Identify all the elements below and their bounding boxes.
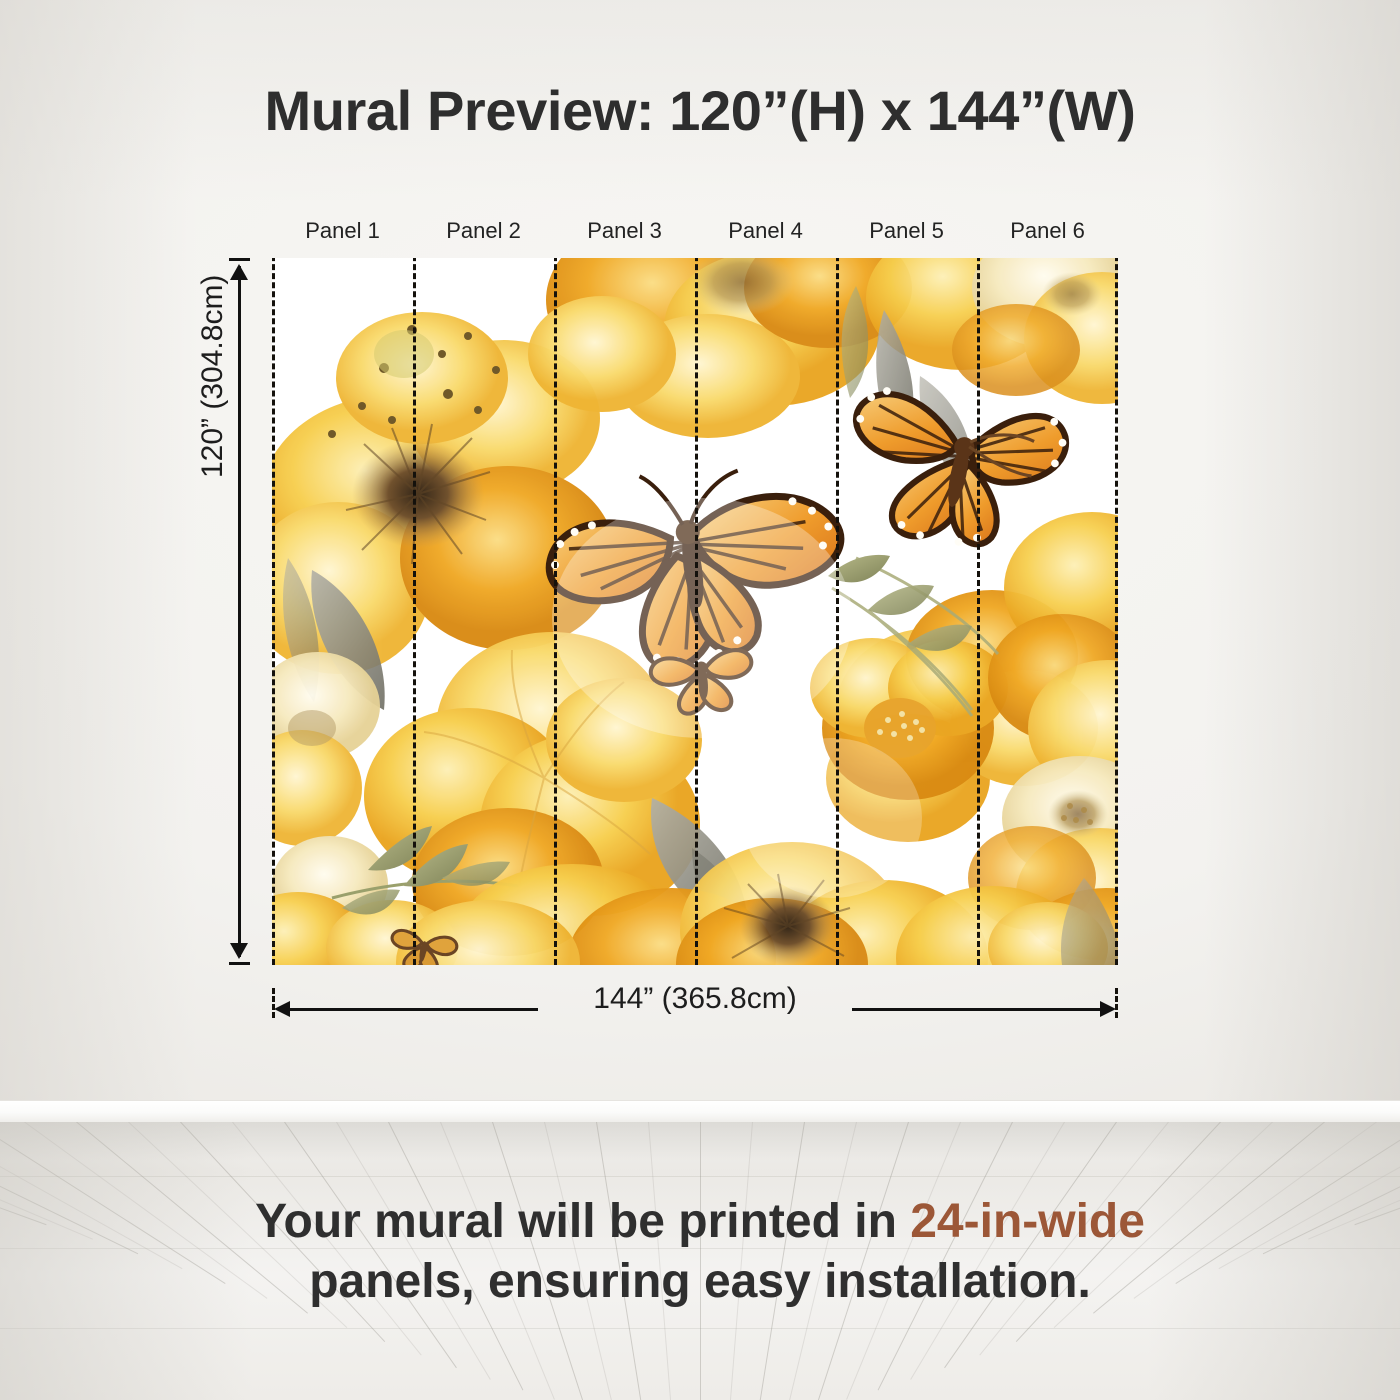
panel-label: Panel 5	[836, 214, 977, 254]
caption-line-1: Your mural will be printed in 24-in-wide	[0, 1192, 1400, 1252]
width-dimension-label: 144” (365.8cm)	[272, 982, 1118, 1016]
height-dimension-arrow	[228, 258, 250, 965]
width-dimension-arrow: 144” (365.8cm)	[272, 998, 1118, 1022]
height-cap-top	[229, 258, 250, 261]
panel-label-row: Panel 1 Panel 2 Panel 3 Panel 4 Panel 5 …	[272, 214, 1118, 254]
panel-label: Panel 3	[554, 214, 695, 254]
width-dimension-endtick	[272, 988, 275, 1018]
panel-label: Panel 4	[695, 214, 836, 254]
panel-label: Panel 2	[413, 214, 554, 254]
floor-seam-line	[0, 1328, 1400, 1329]
height-arrow-shaft	[238, 266, 241, 957]
panel-label: Panel 6	[977, 214, 1118, 254]
caption-highlight: 24-in-wide	[910, 1195, 1145, 1248]
height-arrowhead-down	[230, 943, 248, 959]
mural-artwork	[272, 258, 1118, 965]
height-cap-bottom	[229, 962, 250, 965]
floor-seam-line	[0, 1176, 1400, 1177]
caption-line-2: panels, ensuring easy installation.	[0, 1252, 1400, 1312]
height-dimension-label: 120” (304.8cm)	[196, 275, 230, 478]
height-arrowhead-up	[230, 264, 248, 280]
panel-label: Panel 1	[272, 214, 413, 254]
width-dimension-endtick	[1115, 988, 1118, 1018]
page-title: Mural Preview: 120”(H) x 144”(W)	[0, 78, 1400, 143]
mural-preview[interactable]	[272, 258, 1118, 965]
caption-prefix: Your mural will be printed in	[255, 1195, 910, 1248]
room-scene: Mural Preview: 120”(H) x 144”(W) Panel 1…	[0, 0, 1400, 1400]
caption-text: Your mural will be printed in 24-in-wide…	[0, 1192, 1400, 1313]
